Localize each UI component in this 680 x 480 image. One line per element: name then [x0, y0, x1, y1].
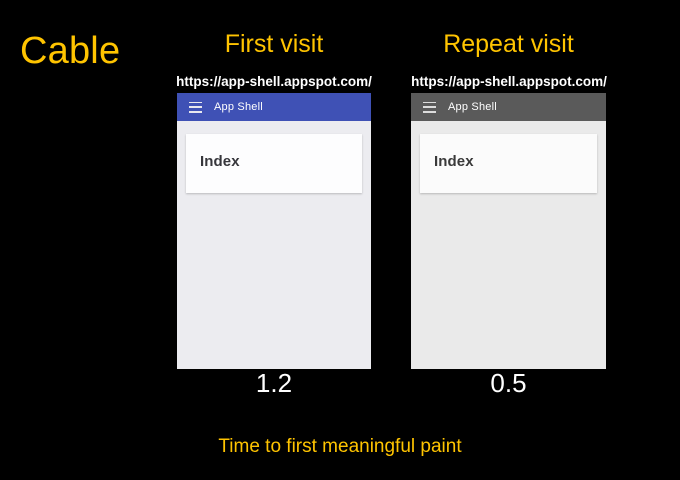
metric-value-first-visit: 1.2 [177, 367, 371, 399]
url-label-first-visit: https://app-shell.appspot.com/ [160, 73, 388, 91]
card-title: Index [200, 153, 240, 170]
app-bar-title: App Shell [448, 101, 497, 113]
slide-title: Cable [20, 28, 120, 74]
screen-body-first-visit: Index [177, 121, 371, 369]
slide-stage: Cable First visit https://app-shell.apps… [0, 0, 680, 480]
content-card-first-visit[interactable]: Index [186, 134, 362, 193]
column-heading-first-visit: First visit [177, 28, 371, 60]
app-bar-first-visit: App Shell [177, 93, 371, 121]
card-title: Index [434, 153, 474, 170]
hamburger-menu-icon[interactable] [189, 102, 202, 113]
url-label-repeat-visit: https://app-shell.appspot.com/ [395, 73, 623, 91]
app-bar-repeat-visit: App Shell [411, 93, 606, 121]
hamburger-menu-icon[interactable] [423, 102, 436, 113]
phone-mockup-repeat-visit: App Shell Index [411, 93, 606, 369]
metric-value-repeat-visit: 0.5 [411, 367, 606, 399]
app-bar-title: App Shell [214, 101, 263, 113]
screen-body-repeat-visit: Index [411, 121, 606, 369]
phone-mockup-first-visit: App Shell Index [177, 93, 371, 369]
slide-caption: Time to first meaningful paint [0, 434, 680, 460]
content-card-repeat-visit[interactable]: Index [420, 134, 597, 193]
column-heading-repeat-visit: Repeat visit [411, 28, 606, 60]
